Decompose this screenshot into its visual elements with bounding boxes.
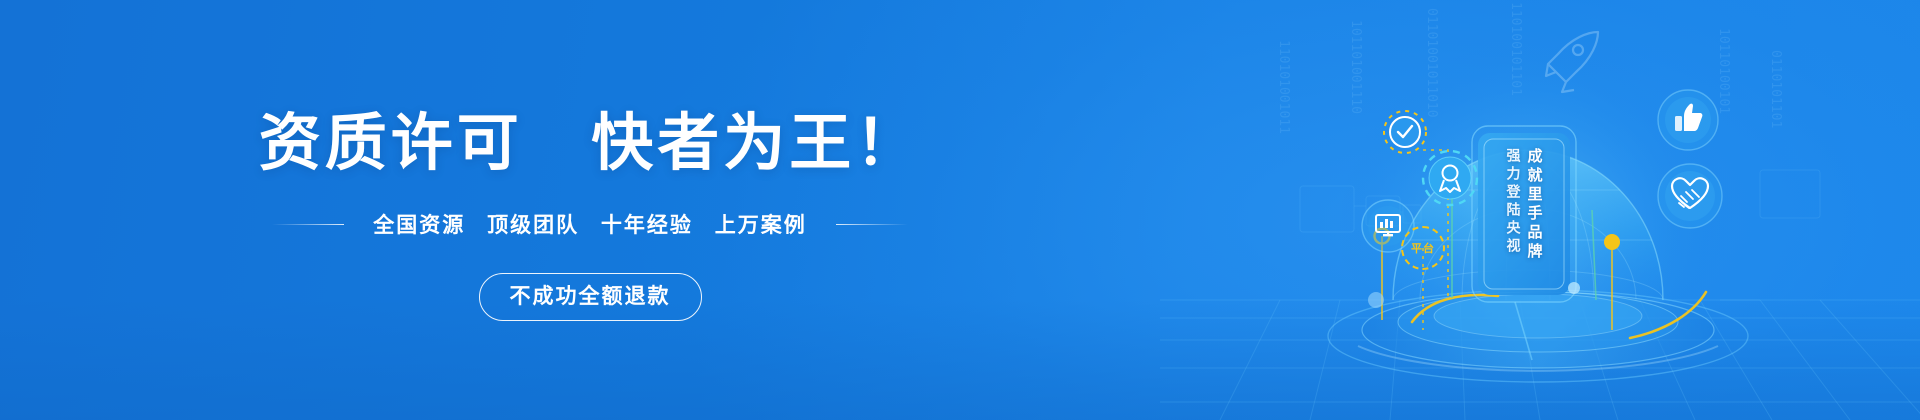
refund-guarantee-button[interactable]: 不成功全额退款 [479, 273, 702, 321]
yellow-dot-marker-right [1604, 234, 1620, 250]
svg-text:101101001110: 101101001110 [1348, 20, 1363, 114]
platform-base [1328, 290, 1748, 382]
svg-text:110101001011: 110101001011 [1276, 40, 1291, 134]
subtitle-item-1: 顶级团队 [487, 214, 579, 237]
platform-badge: 平台 [1401, 226, 1445, 270]
svg-text:0110101101: 0110101101 [1768, 50, 1783, 128]
light-dot-marker [1568, 282, 1580, 294]
subtitle-item-0: 全国资源 [373, 214, 465, 237]
subtitle-row: 全国资源 顶级团队 十年经验 上万案例 [272, 209, 908, 239]
headline-part-1: 资质许可 [259, 109, 523, 178]
banner-copy-block: 资质许可 快者为王！ 全国资源 顶级团队 十年经验 上万案例 不成功全额退款 [0, 0, 1180, 420]
page-title: 资质许可 快者为王！ [259, 113, 922, 175]
subtitle-text: 全国资源 顶级团队 十年经验 上万案例 [366, 209, 814, 239]
subtitle-rule-left [272, 224, 344, 225]
promo-banner: 资质许可 快者为王！ 全国资源 顶级团队 十年经验 上万案例 不成功全额退款 [0, 0, 1920, 420]
handshake-heart-icon [1658, 164, 1722, 228]
headline-part-2: 快者为王！ [591, 109, 921, 178]
tech-illustration: 110101001011 101101001110 01101001011010… [1160, 0, 1920, 420]
subtitle-item-2: 十年经验 [601, 214, 693, 237]
thumbs-up-icon [1658, 90, 1718, 150]
subtitle-rule-right [836, 224, 908, 225]
svg-text:10110100101: 10110100101 [1716, 28, 1731, 114]
light-dot-marker-2 [1368, 292, 1384, 308]
subtitle-item-3: 上万案例 [715, 214, 807, 237]
